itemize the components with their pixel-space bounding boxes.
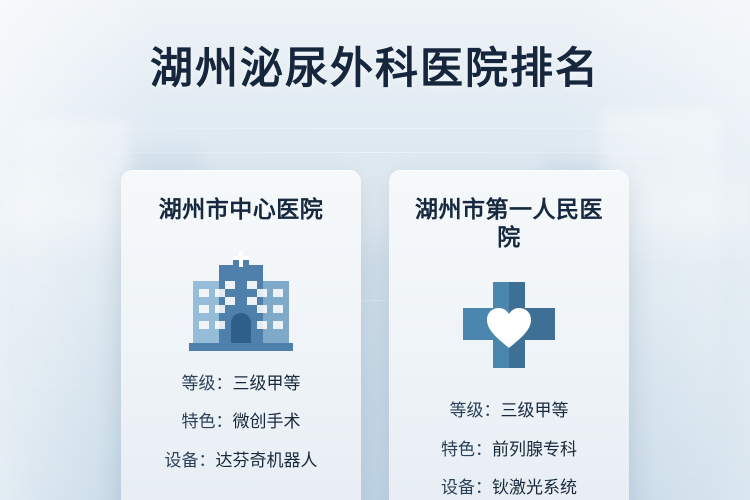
background-horizon-line-1	[0, 128, 750, 129]
spec-value: 钬激光系统	[492, 478, 577, 497]
hospital-spec-list: 等级：三级甲等 特色：前列腺专科 设备：钬激光系统	[405, 399, 613, 500]
spec-value: 前列腺专科	[492, 440, 577, 459]
spec-row: 设备：达芬奇机器人	[137, 449, 345, 474]
background-horizon-line-2	[0, 152, 750, 153]
medical-cross-heart-icon	[405, 273, 613, 383]
spec-label: 特色：	[182, 412, 233, 431]
spec-label: 特色：	[441, 440, 492, 459]
page-title: 湖州泌尿外科医院排名	[0, 34, 750, 96]
spec-label: 等级：	[450, 401, 501, 420]
hospital-name: 湖州市中心医院	[137, 196, 345, 224]
hospital-name: 湖州市第一人民医院	[405, 196, 613, 251]
spec-label: 设备：	[165, 451, 216, 470]
spec-row: 设备：钬激光系统	[405, 476, 613, 500]
spec-row: 特色：微创手术	[137, 410, 345, 435]
spec-value: 三级甲等	[233, 374, 301, 393]
spec-label: 等级：	[182, 374, 233, 393]
hospital-card-list: 湖州市中心医院	[0, 170, 750, 500]
poster-canvas: 湖州泌尿外科医院排名 湖州市中心医院	[0, 0, 750, 500]
spec-value: 三级甲等	[501, 401, 569, 420]
hospital-card[interactable]: 湖州市中心医院	[121, 170, 361, 500]
spec-row: 特色：前列腺专科	[405, 438, 613, 463]
hospital-building-icon	[137, 246, 345, 356]
spec-label: 设备：	[441, 478, 492, 497]
spec-row: 等级：三级甲等	[137, 372, 345, 397]
hospital-spec-list: 等级：三级甲等 特色：微创手术 设备：达芬奇机器人	[137, 372, 345, 474]
hospital-card[interactable]: 湖州市第一人民医院 等级：三级甲等 特色：前列腺专科 设备：钬激光系统	[389, 170, 629, 500]
spec-value: 达芬奇机器人	[216, 451, 318, 470]
spec-row: 等级：三级甲等	[405, 399, 613, 424]
spec-value: 微创手术	[233, 412, 301, 431]
